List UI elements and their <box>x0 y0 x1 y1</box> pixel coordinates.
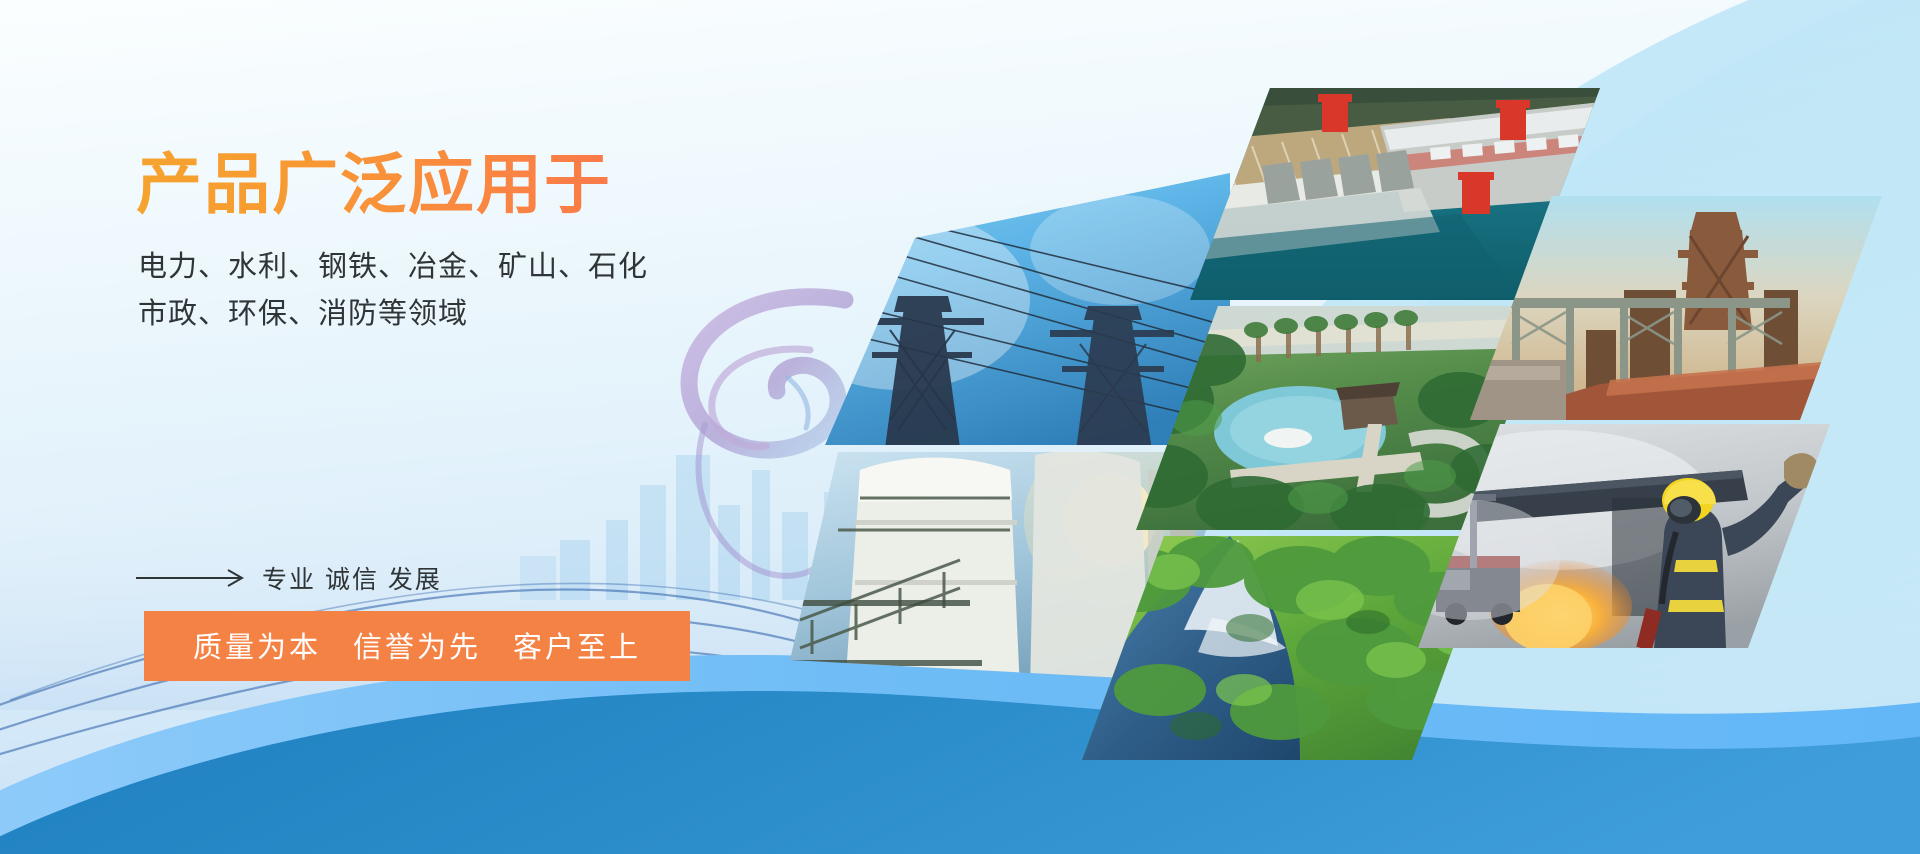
slogan-badge: 质量为本 信誉为先 客户至上 <box>144 611 690 681</box>
photo-collage <box>0 0 1920 854</box>
motto-row: 专业 诚信 发展 <box>136 560 442 596</box>
subtitle-line-2: 市政、环保、消防等领域 <box>138 291 836 338</box>
motto-text: 专业 诚信 发展 <box>262 560 442 596</box>
page-title: 产品广泛应用于 <box>136 148 836 222</box>
headline-block: 产品广泛应用于 电力、水利、钢铁、冶金、矿山、石化 市政、环保、消防等领域 <box>136 148 836 338</box>
promo-banner: 产品广泛应用于 电力、水利、钢铁、冶金、矿山、石化 市政、环保、消防等领域 专业… <box>0 0 1920 854</box>
collage-graphics <box>0 0 1920 854</box>
long-arrow-right-icon <box>136 567 248 589</box>
subtitle-line-1: 电力、水利、钢铁、冶金、矿山、石化 <box>138 244 836 291</box>
subtitle-lines: 电力、水利、钢铁、冶金、矿山、石化 市政、环保、消防等领域 <box>138 244 836 338</box>
